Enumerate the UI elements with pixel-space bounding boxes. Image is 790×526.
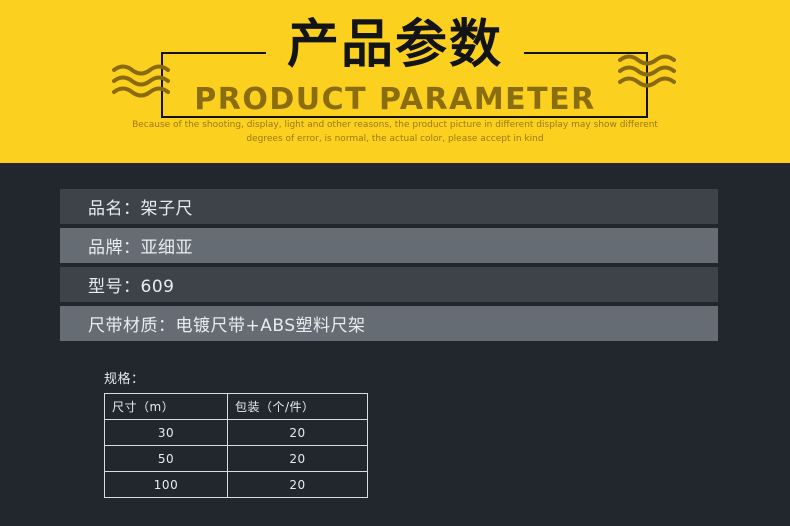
spec-row: 品牌：亚细亚 bbox=[60, 228, 718, 263]
spec-row: 型号：609 bbox=[60, 267, 718, 302]
table-cell-packing: 20 bbox=[228, 446, 368, 472]
product-parameter-page: 产品参数 PRODUCT PARAMETER Because of the sh… bbox=[0, 0, 790, 526]
spec-table: 尺寸（m） 包装（个/件） 30 20 50 20 100 20 bbox=[104, 393, 368, 498]
spec-row-text: 型号：609 bbox=[88, 272, 174, 297]
table-cell-packing: 20 bbox=[228, 420, 368, 446]
disclaimer-text: Because of the shooting, display, light … bbox=[125, 118, 665, 146]
table-cell-size: 50 bbox=[105, 446, 228, 472]
wave-decoration-left-icon bbox=[110, 62, 182, 100]
table-header-row: 尺寸（m） 包装（个/件） bbox=[105, 394, 368, 420]
spec-row-text: 品名：架子尺 bbox=[88, 194, 193, 219]
table-header-size: 尺寸（m） bbox=[105, 394, 228, 420]
table-cell-size: 100 bbox=[105, 472, 228, 498]
table-cell-size: 30 bbox=[105, 420, 228, 446]
spec-table-section: 规格： 尺寸（m） 包装（个/件） 30 20 50 20 100 bbox=[104, 368, 368, 498]
wave-decoration-right-icon bbox=[616, 52, 688, 90]
table-row: 50 20 bbox=[105, 446, 368, 472]
table-row: 100 20 bbox=[105, 472, 368, 498]
header-banner: 产品参数 PRODUCT PARAMETER Because of the sh… bbox=[0, 0, 790, 163]
spec-table-label: 规格： bbox=[104, 368, 368, 387]
spec-row-text: 品牌：亚细亚 bbox=[88, 233, 193, 258]
spec-row-text: 尺带材质：电镀尺带+ABS塑料尺架 bbox=[88, 311, 366, 336]
spec-row-list: 品名：架子尺 品牌：亚细亚 型号：609 尺带材质：电镀尺带+ABS塑料尺架 bbox=[60, 189, 718, 345]
table-row: 30 20 bbox=[105, 420, 368, 446]
table-cell-packing: 20 bbox=[228, 472, 368, 498]
spec-row: 尺带材质：电镀尺带+ABS塑料尺架 bbox=[60, 306, 718, 341]
spec-row: 品名：架子尺 bbox=[60, 189, 718, 224]
table-header-packing: 包装（个/件） bbox=[228, 394, 368, 420]
